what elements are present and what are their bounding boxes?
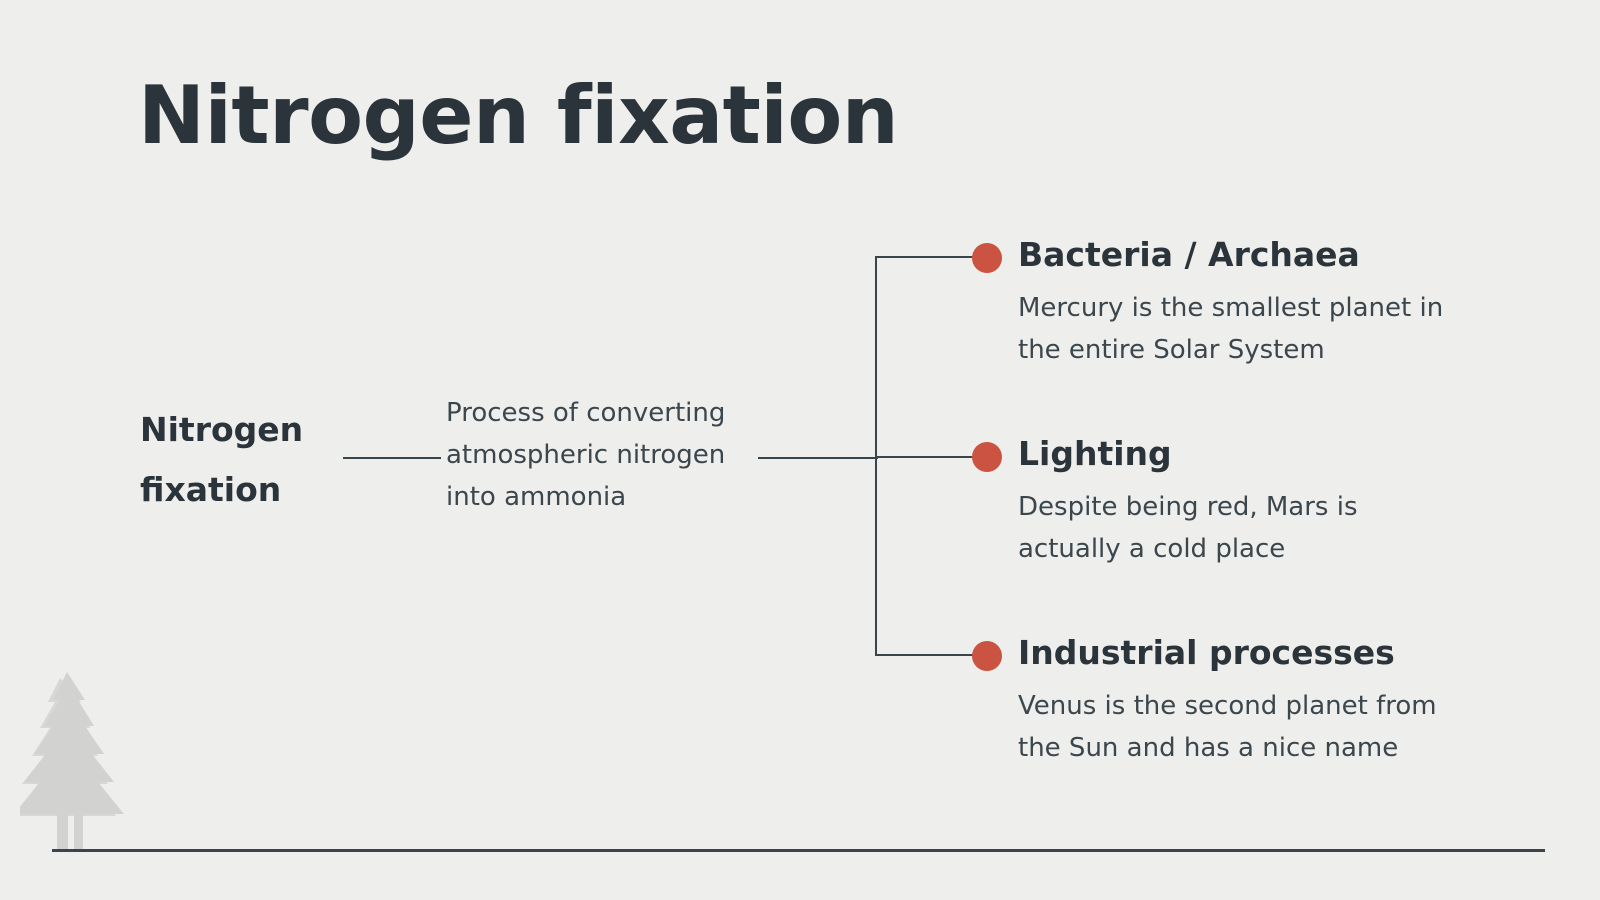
bullet-dot-icon [972, 243, 1002, 273]
branch-item-description: Mercury is the smallest planet in the en… [1018, 287, 1448, 371]
root-connector-line [343, 457, 441, 459]
branch-item-title: Industrial processes [1018, 629, 1488, 677]
branch-item-title: Bacteria / Archaea [1018, 231, 1488, 279]
bullet-dot-icon [972, 641, 1002, 671]
footer-divider [52, 849, 1545, 852]
branch-line-1 [875, 256, 983, 258]
bullet-dot-icon [972, 442, 1002, 472]
pine-tree-icon [20, 668, 140, 850]
root-node-label: Nitrogen fixation [140, 400, 350, 520]
page-title: Nitrogen fixation [138, 68, 898, 164]
branch-line-3 [875, 654, 983, 656]
root-description: Process of converting atmospheric nitrog… [446, 392, 736, 518]
branch-item-description: Despite being red, Mars is actually a co… [1018, 486, 1448, 570]
branch-item-industrial-processes[interactable]: Industrial processes Venus is the second… [1018, 629, 1488, 769]
branch-item-lighting[interactable]: Lighting Despite being red, Mars is actu… [1018, 430, 1488, 570]
branch-item-bacteria-archaea[interactable]: Bacteria / Archaea Mercury is the smalle… [1018, 231, 1488, 371]
slide-canvas: Nitrogen fixation Nitrogen fixation Proc… [0, 0, 1600, 900]
description-to-spine-connector [758, 457, 878, 459]
branch-line-2 [875, 456, 983, 458]
branch-item-description: Venus is the second planet from the Sun … [1018, 685, 1448, 769]
branch-item-title: Lighting [1018, 430, 1488, 478]
